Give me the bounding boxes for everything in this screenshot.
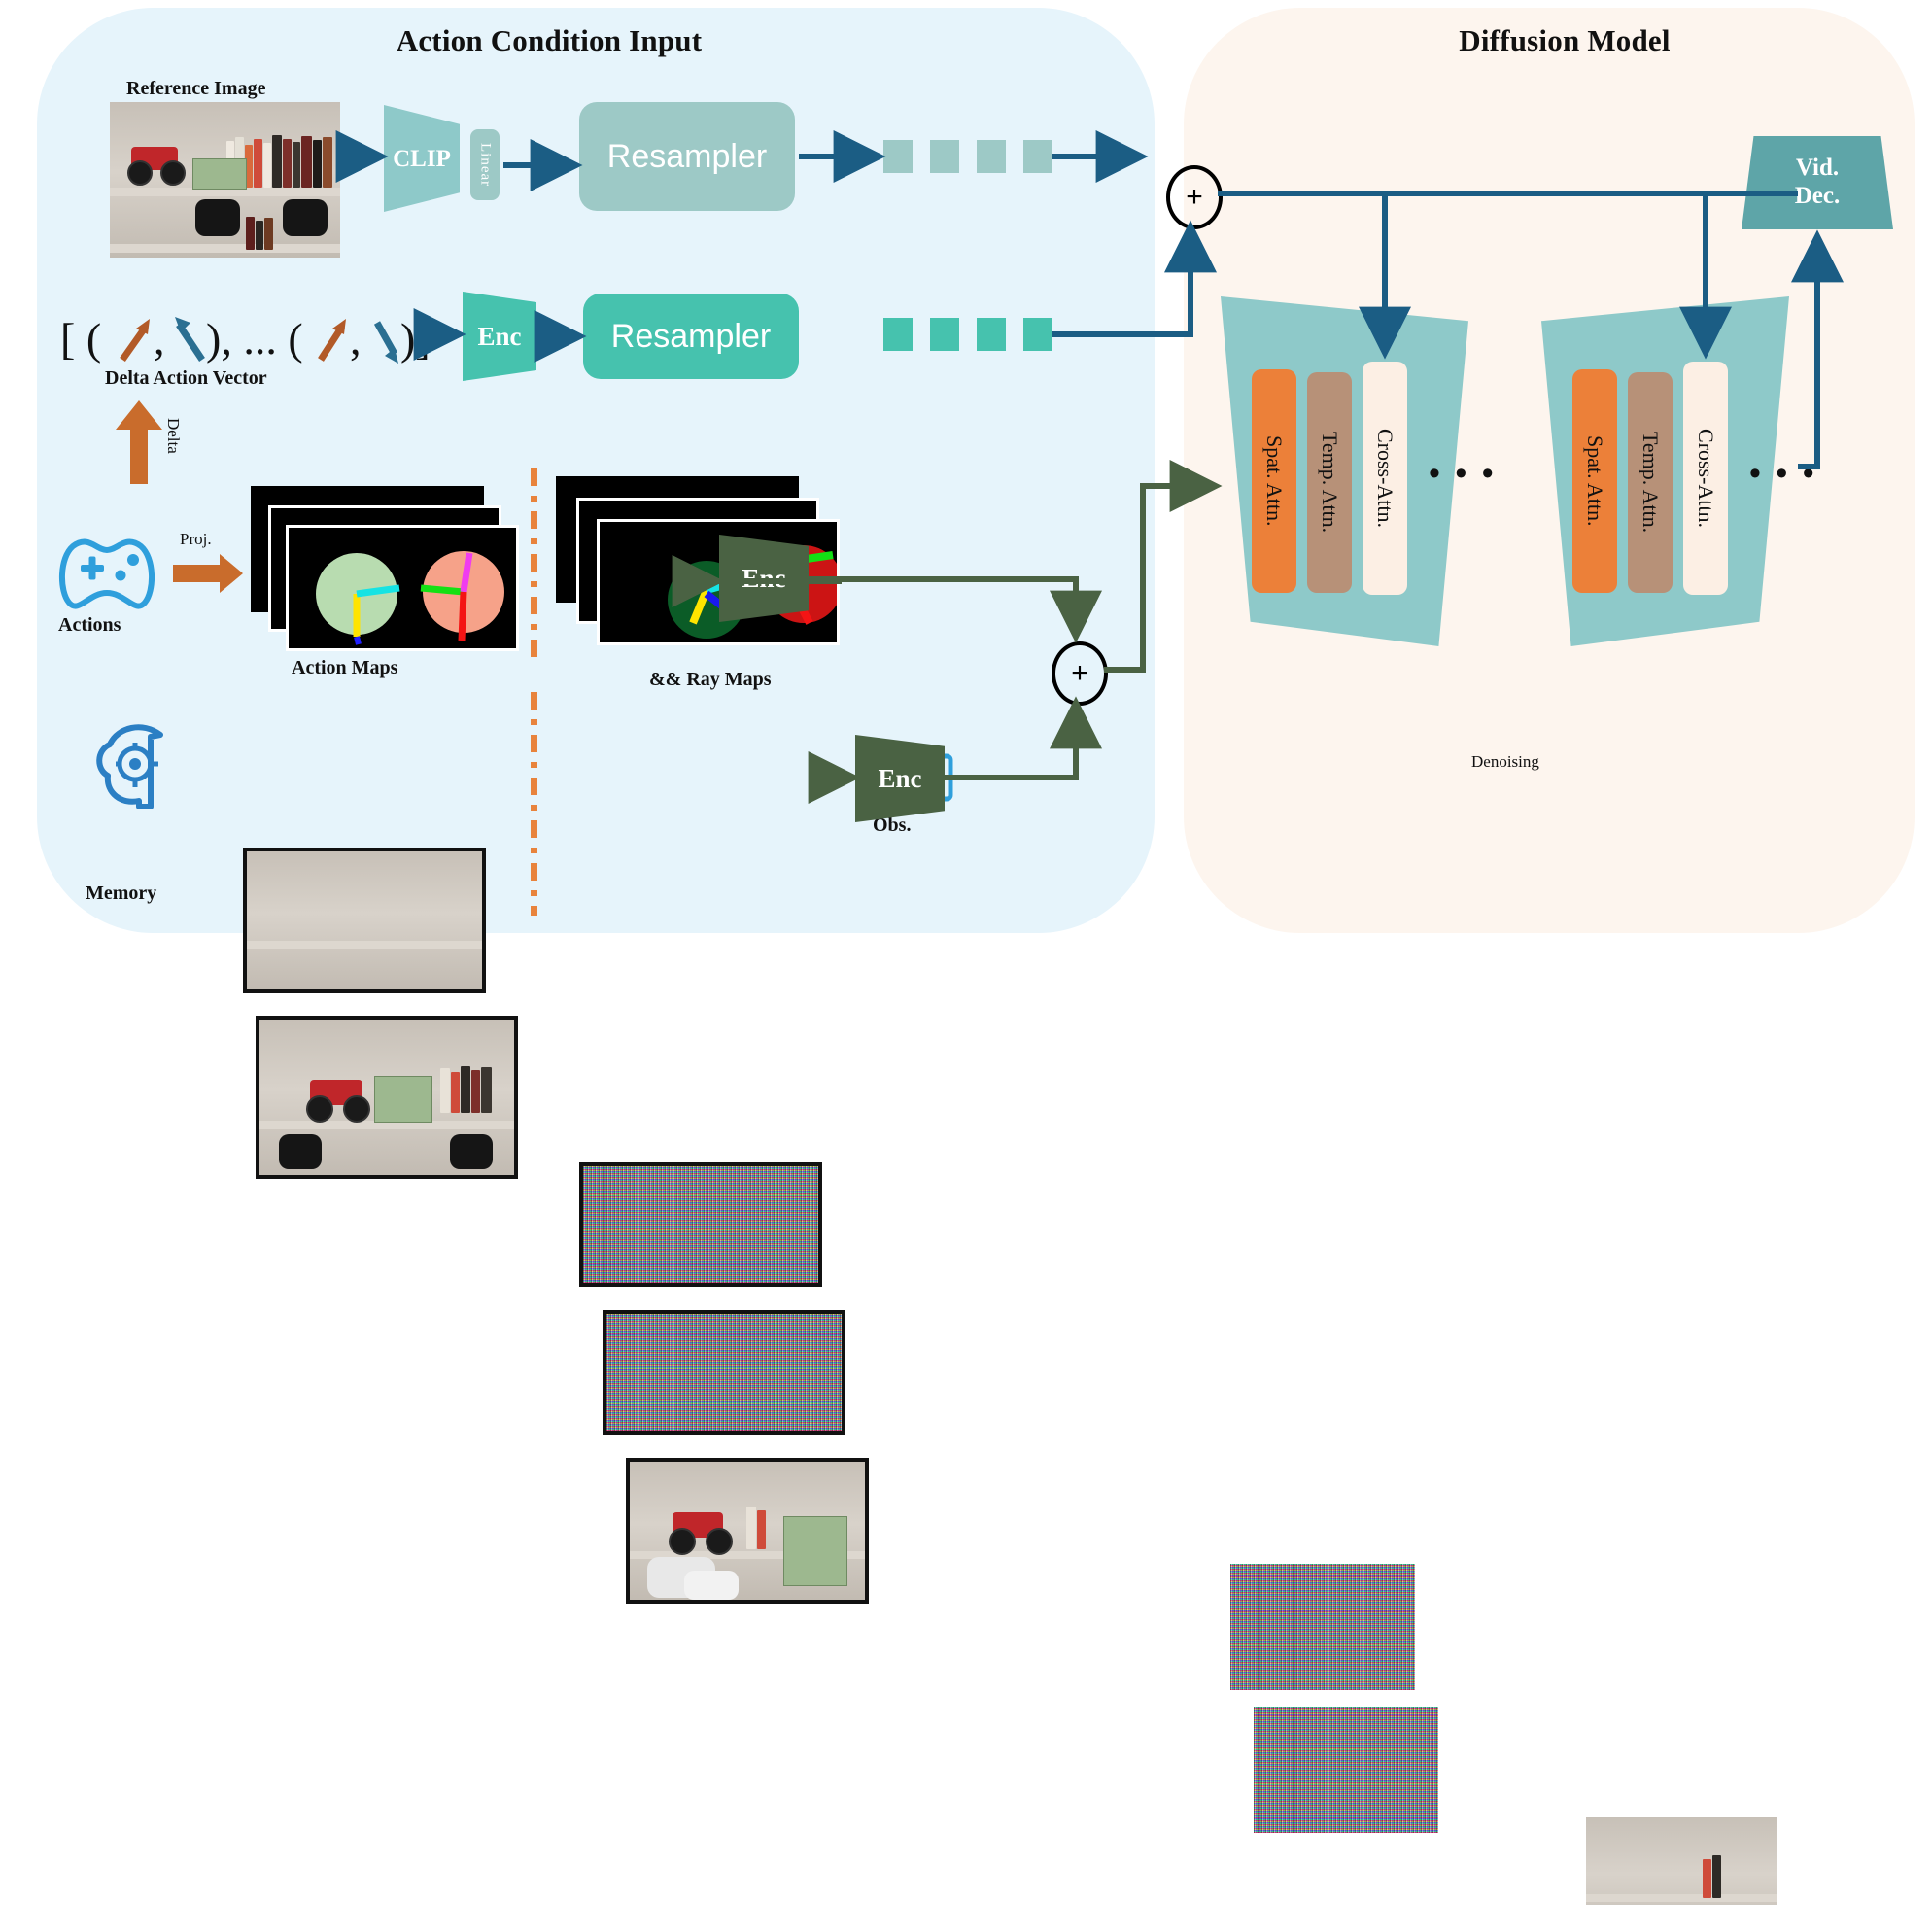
memory-brain-icon bbox=[92, 719, 186, 814]
unet-up-spatial-attn-label: Spat. Attn. bbox=[1582, 435, 1607, 527]
enc-action-maps-label: Enc bbox=[742, 564, 785, 594]
actions-label: Actions bbox=[58, 614, 121, 637]
panel-title-diffusion-model: Diffusion Model bbox=[1361, 23, 1769, 58]
unet-down-temporal-attn-label: Temp. Attn. bbox=[1317, 432, 1342, 533]
gamepad-icon bbox=[53, 533, 160, 617]
linear-label: Linear bbox=[477, 143, 494, 187]
unet-up-ellipsis: • • • bbox=[1749, 455, 1817, 493]
action-token-4 bbox=[1023, 318, 1052, 351]
image-token-4 bbox=[1023, 140, 1052, 173]
image-token-3 bbox=[977, 140, 1006, 173]
action-token-2 bbox=[930, 318, 959, 351]
memory-frame-front bbox=[256, 1016, 518, 1179]
linear-block: Linear bbox=[470, 129, 500, 200]
unet-down-ellipsis: • • • bbox=[1429, 455, 1497, 493]
divider-dashed-bottom bbox=[531, 692, 537, 916]
denoising-label: Denoising bbox=[1471, 752, 1539, 772]
resampler-bottom-block: Resampler bbox=[583, 294, 799, 379]
memory-label: Memory bbox=[86, 883, 156, 905]
resampler-top-label: Resampler bbox=[607, 138, 767, 176]
plus-node-latent: + bbox=[1052, 641, 1108, 706]
unet-down-cross-attn-label: Cross-Attn. bbox=[1372, 429, 1397, 528]
action-token-1 bbox=[883, 318, 913, 351]
svg-text:,: , bbox=[350, 314, 362, 364]
unet-up-cross-attn: Cross-Attn. bbox=[1683, 362, 1728, 595]
delta-action-vector-expression: [ ( , ), ... ( , )] bbox=[60, 309, 430, 367]
proj-label: Proj. bbox=[180, 530, 212, 549]
enc-obs-block: Enc bbox=[855, 735, 945, 822]
unet-down-cross-attn: Cross-Attn. bbox=[1363, 362, 1407, 595]
resampler-top-block: Resampler bbox=[579, 102, 795, 211]
unet-up-temporal-attn: Temp. Attn. bbox=[1628, 372, 1673, 593]
delta-arrow-label: Delta bbox=[163, 418, 183, 454]
delta-action-vector-label: Delta Action Vector bbox=[105, 367, 267, 390]
enc-action-vector-block: Enc bbox=[463, 292, 536, 381]
image-token-1 bbox=[883, 140, 913, 173]
resampler-bottom-label: Resampler bbox=[611, 318, 771, 356]
divider-dashed-top bbox=[531, 468, 537, 663]
unet-down-spatial-attn: Spat. Attn. bbox=[1252, 369, 1296, 593]
ray-maps-label: && Ray Maps bbox=[649, 669, 772, 691]
unet-up-cross-attn-label: Cross-Attn. bbox=[1693, 429, 1718, 528]
clip-label: CLIP bbox=[393, 146, 451, 173]
action-token-3 bbox=[977, 318, 1006, 351]
memory-frame-back bbox=[243, 848, 486, 993]
denoise-input-frame-front bbox=[1254, 1707, 1438, 1833]
obs-noise-frame-mid bbox=[603, 1310, 845, 1435]
obs-frame-front bbox=[626, 1458, 869, 1604]
svg-text:[ (: [ ( bbox=[60, 314, 101, 364]
enc-action-maps-block: Enc bbox=[719, 535, 809, 622]
plus-node-condition: + bbox=[1166, 165, 1223, 229]
delta-arrow-icon bbox=[115, 398, 163, 491]
unet-up-spatial-attn: Spat. Attn. bbox=[1572, 369, 1617, 593]
video-decoder-label-line2: Dec. bbox=[1795, 183, 1841, 211]
enc-action-vector-label: Enc bbox=[477, 322, 521, 352]
denoise-input-frame-back bbox=[1230, 1564, 1415, 1690]
obs-noise-frame-back bbox=[579, 1162, 822, 1287]
action-maps-label: Action Maps bbox=[292, 657, 397, 679]
proj-arrow-icon bbox=[173, 552, 245, 600]
reference-image-label: Reference Image bbox=[126, 78, 265, 100]
unet-down-temporal-attn: Temp. Attn. bbox=[1307, 372, 1352, 593]
video-decoder-label-line1: Vid. bbox=[1796, 155, 1839, 183]
video-decoder-block: Vid. Dec. bbox=[1742, 136, 1893, 229]
reference-image-thumbnail bbox=[110, 102, 340, 258]
unet-up-temporal-attn-label: Temp. Attn. bbox=[1638, 432, 1663, 533]
unet-down-spatial-attn-label: Spat. Attn. bbox=[1261, 435, 1287, 527]
enc-obs-label: Enc bbox=[878, 764, 921, 794]
action-map-frame-front bbox=[286, 525, 519, 651]
svg-text:), ... (: ), ... ( bbox=[206, 314, 303, 364]
svg-text:,: , bbox=[154, 314, 165, 364]
denoise-output-frame-back bbox=[1586, 1817, 1777, 1905]
panel-title-action-condition-input: Action Condition Input bbox=[340, 23, 758, 58]
image-token-2 bbox=[930, 140, 959, 173]
svg-text:)]: )] bbox=[400, 314, 430, 364]
